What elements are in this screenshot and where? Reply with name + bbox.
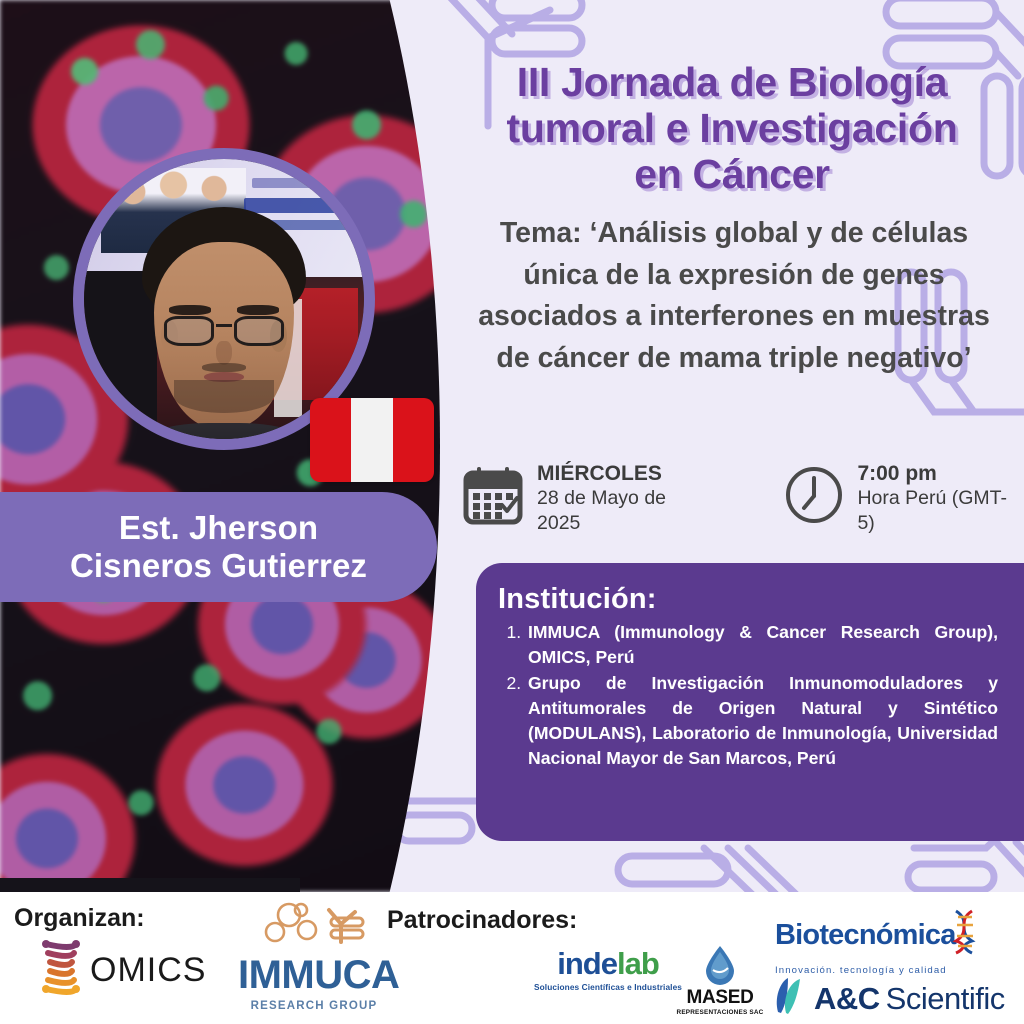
indelab-name-part2: lab	[617, 946, 659, 981]
indelab-name-part1: inde	[557, 946, 617, 981]
peru-flag-icon	[310, 398, 434, 482]
indelab-tagline: Soluciones Científicas e Industriales	[533, 982, 683, 992]
portrait-beard	[174, 380, 275, 414]
logo-immuca: IMMUCA RESEARCH GROUP	[238, 902, 390, 1014]
flag-band-red-left	[310, 398, 351, 482]
logo-indelab: indelab Soluciones Científicas e Industr…	[533, 948, 683, 1010]
portrait-lens-right	[234, 316, 284, 346]
calendar-icon	[462, 464, 524, 531]
antibody-cells-icon	[259, 937, 369, 954]
schedule-hour: 7:00 pm	[857, 461, 1024, 487]
page-title: III Jornada de Biología tumoral e Invest…	[448, 60, 1016, 198]
institution-list: IMMUCA (Immunology & Cancer Research Gro…	[526, 620, 998, 771]
logo-omics: OMICS	[38, 938, 230, 1002]
ac-scientific-wordmark: A&CScientific	[814, 981, 1005, 1017]
flag-band-red-right	[393, 398, 434, 482]
schedule-day: MIÉRCOLES	[537, 461, 714, 487]
portrait-torso	[127, 423, 321, 439]
event-theme: Tema: ‘Análisis global y de células únic…	[464, 213, 1004, 379]
schedule-time-text: 7:00 pm Hora Perú (GMT-5)	[857, 461, 1024, 535]
ac-name-bold: A&C	[814, 981, 880, 1016]
immuca-tagline: RESEARCH GROUP	[238, 1000, 390, 1012]
speaker-name-line1: Est. Jherson	[70, 509, 367, 547]
institution-card: Institución: IMMUCA (Immunology & Cancer…	[476, 563, 1024, 841]
portrait-face	[154, 242, 294, 428]
indelab-wordmark: indelab	[533, 948, 683, 979]
leaf-swoosh-icon	[772, 976, 806, 1021]
portrait-brow-right	[237, 305, 279, 314]
schedule-time: 7:00 pm Hora Perú (GMT-5)	[784, 461, 1024, 535]
event-poster: Est. Jherson Cisneros Gutierrez III Jorn…	[0, 0, 1024, 1024]
dna-icon	[950, 908, 980, 962]
immuca-wordmark: IMMUCA	[238, 955, 390, 995]
speaker-name-line2: Cisneros Gutierrez	[70, 547, 367, 585]
portrait-brow-left	[169, 305, 211, 314]
institution-item-2: Grupo de Investigación Inmunomoduladores…	[526, 671, 998, 771]
omics-wordmark: OMICS	[90, 951, 206, 990]
portrait-screen-text-1	[252, 178, 353, 189]
poster-main-content: III Jornada de Biología tumoral e Invest…	[440, 0, 1024, 892]
clock-icon	[784, 465, 844, 530]
microscopy-bottom-bar	[0, 878, 300, 892]
portrait-lens-left	[164, 316, 214, 346]
speaker-name-banner: Est. Jherson Cisneros Gutierrez	[0, 492, 437, 602]
schedule-full-date: 28 de Mayo de 2025	[537, 486, 714, 535]
flag-band-white	[351, 398, 392, 482]
portrait-head	[134, 207, 313, 439]
dna-helix-icon	[38, 938, 84, 1003]
speaker-name: Est. Jherson Cisneros Gutierrez	[70, 509, 367, 584]
schedule-date: MIÉRCOLES 28 de Mayo de 2025	[462, 461, 714, 535]
title-line-1: III Jornada de Biología	[448, 60, 1016, 106]
logo-mased: MASED REPRESENTACIONES SAC	[676, 944, 764, 1016]
institution-heading: Institución:	[498, 583, 1004, 616]
title-line-3: en Cáncer	[448, 152, 1016, 198]
biotecnomica-name: Biotecnómica	[775, 921, 956, 950]
mased-wordmark: MASED	[676, 988, 764, 1007]
biotecnomica-tagline: Innovación. tecnología y calidad	[775, 965, 1015, 976]
schedule-date-text: MIÉRCOLES 28 de Mayo de 2025	[537, 461, 714, 535]
schedule-row: MIÉRCOLES 28 de Mayo de 2025 7:00 pm Hor…	[462, 455, 1024, 541]
organizers-label: Organizan:	[14, 904, 145, 933]
portrait-nose	[216, 341, 233, 365]
portrait-glasses-bridge	[216, 324, 233, 327]
institution-item-1: IMMUCA (Immunology & Cancer Research Gro…	[526, 620, 998, 670]
logo-biotecnomica: Biotecnómica Innovación. tecnología y ca…	[775, 908, 1015, 976]
mased-tagline: REPRESENTACIONES SAC	[676, 1009, 764, 1016]
biotecnomica-wordmark: Biotecnómica	[775, 908, 1015, 962]
title-line-2: tumoral e Investigación	[448, 106, 1016, 152]
logo-ac-scientific: A&CScientific	[772, 976, 1005, 1021]
ac-name-thin: Scientific	[886, 981, 1005, 1016]
portrait-photo	[84, 159, 364, 439]
sponsors-label: Patrocinadores:	[387, 906, 577, 935]
portrait-moustache	[202, 363, 247, 372]
water-drop-icon	[676, 944, 764, 986]
schedule-timezone: Hora Perú (GMT-5)	[857, 486, 1024, 535]
